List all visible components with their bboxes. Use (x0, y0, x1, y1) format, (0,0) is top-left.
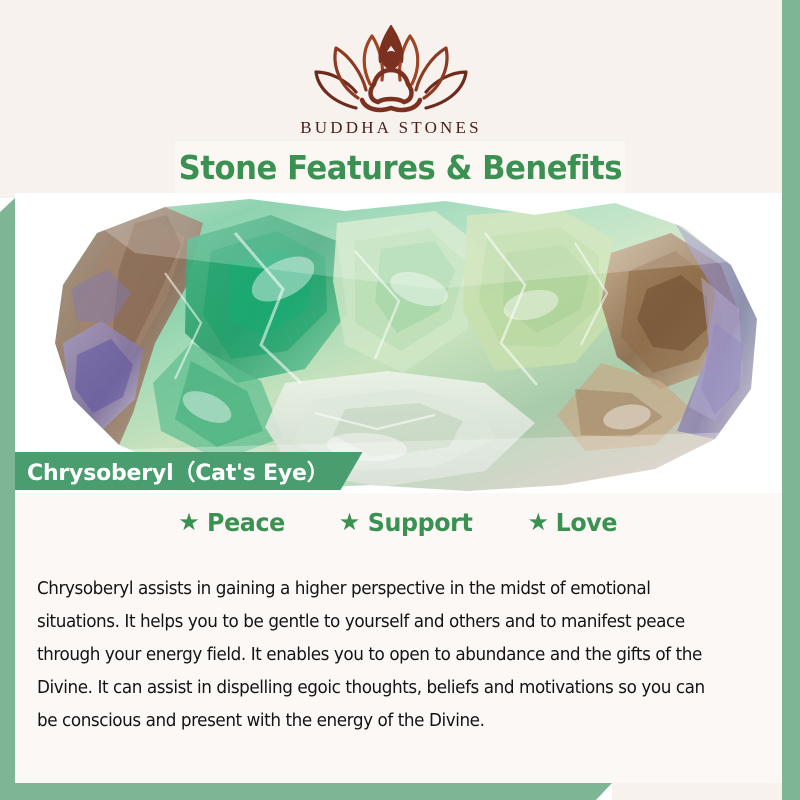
keyword-label: Support (368, 508, 473, 537)
page-title: Stone Features & Benefits (178, 148, 621, 187)
keyword-list: ★ Peace ★ Support ★ Love (15, 508, 782, 537)
frame-band-left (0, 198, 15, 783)
keyword-item-support: ★ Support (339, 508, 476, 537)
frame-band-bottom (0, 783, 612, 800)
keyword-label: Love (556, 508, 618, 537)
keyword-item-love: ★ Love (527, 508, 618, 537)
stone-description: Chrysoberyl assists in gaining a higher … (37, 573, 729, 738)
title-banner: Stone Features & Benefits (175, 141, 625, 193)
star-icon: ★ (339, 511, 361, 535)
stone-info-card: BUDDHA STONES Stone Features & Benefits (0, 0, 800, 800)
keyword-label: Peace (207, 508, 285, 537)
brand-logo: BUDDHA STONES (0, 22, 782, 138)
lotus-meditation-icon (296, 22, 486, 114)
stone-photo (15, 193, 782, 493)
star-icon: ★ (178, 511, 200, 535)
frame-band-right (782, 0, 800, 800)
description-panel: ★ Peace ★ Support ★ Love Chrysoberyl ass… (15, 493, 782, 783)
brand-name: BUDDHA STONES (0, 118, 782, 138)
stone-image (15, 193, 782, 493)
keyword-item-peace: ★ Peace (178, 508, 286, 537)
stone-name: Chrysoberyl（Cat's Eye） (27, 455, 329, 487)
stone-name-banner: Chrysoberyl（Cat's Eye） (15, 452, 363, 490)
bottom-right-strip (612, 783, 782, 800)
star-icon: ★ (527, 511, 549, 535)
